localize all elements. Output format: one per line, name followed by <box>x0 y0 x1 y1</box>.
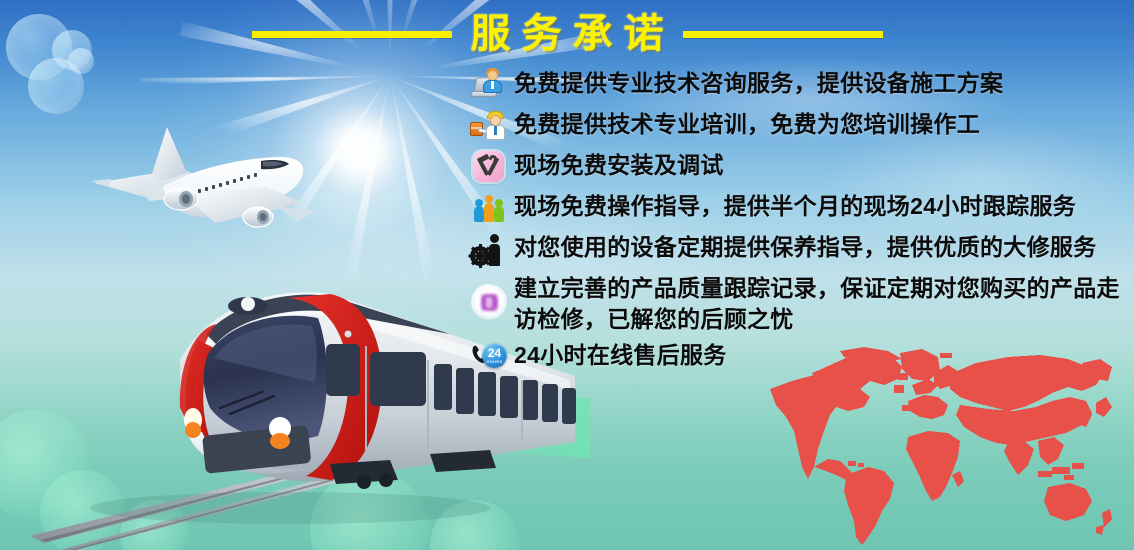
hours-word: HOURS <box>487 359 503 364</box>
service-text: 免费提供技术专业培训，免费为您培训操作工 <box>514 109 980 140</box>
service-text: 现场免费安装及调试 <box>514 150 724 181</box>
worker-gear-icon <box>470 232 508 268</box>
list-item: 建立完善的产品质量跟踪记录，保证定期对您购买的产品走访检修，已解您的后顾之忧 <box>470 273 1130 335</box>
list-item: 24 HOURS 24小时在线售后服务 <box>470 340 1130 376</box>
service-text: 建立完善的产品质量跟踪记录，保证定期对您购买的产品走访检修，已解您的后顾之忧 <box>514 273 1126 335</box>
list-item: 现场免费安装及调试 <box>470 150 1130 186</box>
page-title: 服务承诺 <box>460 14 675 54</box>
headline-rule-right <box>683 31 883 38</box>
person-laptop-icon <box>470 68 508 104</box>
service-text: 对您使用的设备定期提供保养指导，提供优质的大修服务 <box>514 232 1097 263</box>
service-text: 现场免费操作指导，提供半个月的现场24小时跟踪服务 <box>514 191 1076 222</box>
service-list: 免费提供专业技术咨询服务，提供设备施工方案 免费提供技术专业培训，免费为您培训操… <box>470 68 1130 381</box>
headline-rule-left <box>252 31 452 38</box>
service-text: 免费提供专业技术咨询服务，提供设备施工方案 <box>514 68 1003 99</box>
list-item: 免费提供技术专业培训，免费为您培训操作工 <box>470 109 1130 145</box>
quality-badge-icon <box>470 285 508 323</box>
service-text: 24小时在线售后服务 <box>514 340 727 371</box>
headline: 服务承诺 <box>0 8 1134 60</box>
list-item: 对您使用的设备定期提供保养指导，提供优质的大修服务 <box>470 232 1130 268</box>
three-people-icon <box>470 191 508 227</box>
engineer-helmet-icon <box>470 109 508 145</box>
list-item: 免费提供专业技术咨询服务，提供设备施工方案 <box>470 68 1130 104</box>
tools-tile-icon <box>470 150 508 186</box>
hours-number: 24 <box>488 348 501 359</box>
list-item: 现场免费操作指导，提供半个月的现场24小时跟踪服务 <box>470 191 1130 227</box>
phone-24hours-icon: 24 HOURS <box>470 340 508 376</box>
airplane-illustration <box>55 95 375 270</box>
service-commitment-banner: 服务承诺 免费提供专业技术咨询服务，提供设备施工方案 免费提供技术专业培训，免费… <box>0 0 1134 550</box>
